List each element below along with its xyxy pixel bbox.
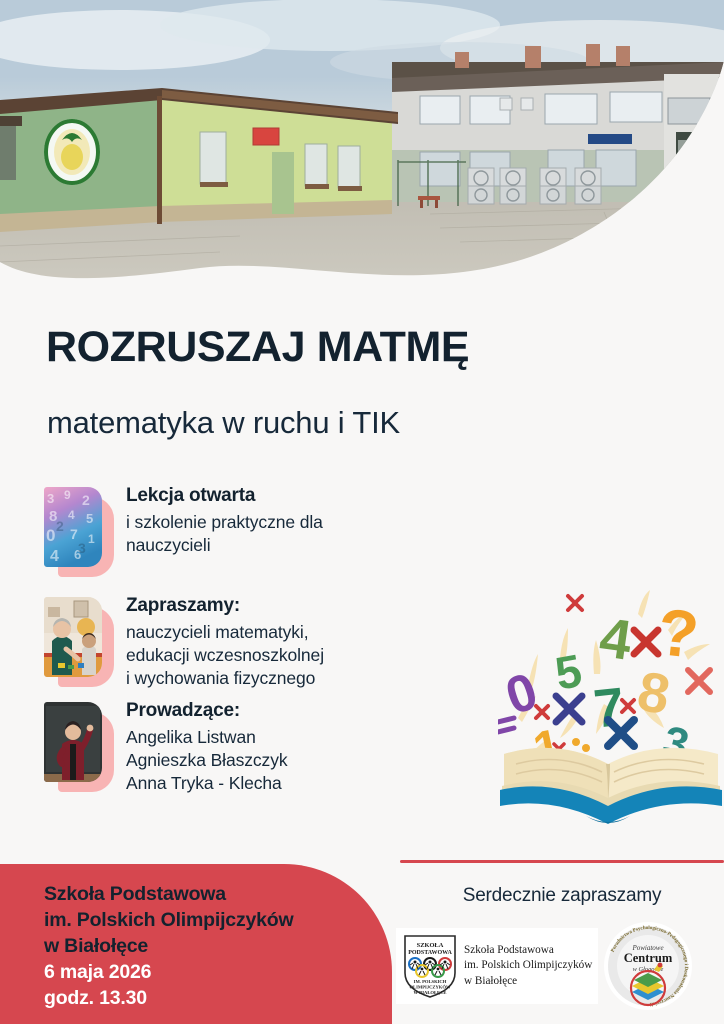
svg-text:2: 2 <box>56 518 64 534</box>
school-logo-line: w Białołęce <box>464 974 592 989</box>
section-heading: Zapraszamy: <box>126 595 324 617</box>
svg-text:W BIAŁOŁĘCE: W BIAŁOŁĘCE <box>414 990 447 995</box>
svg-text:?: ? <box>654 594 702 672</box>
event-details-banner: Szkoła Podstawowa im. Polskich Olimpijcz… <box>0 864 392 1024</box>
section-line: Agnieszka Błaszczyk <box>126 749 288 772</box>
event-date: 6 maja 2026 <box>44 960 293 986</box>
section-text: Prowadzące: Angelika Listwan Agnieszka B… <box>126 700 288 795</box>
numbers-gradient-photo: 3 9 2 8 4 5 0 7 1 4 6 2 3 <box>44 487 102 567</box>
open-book-with-numbers-illustration: 0 5 4 7 8 3 1 ? <box>498 578 724 830</box>
svg-text:3: 3 <box>47 491 54 506</box>
school-logo-line: im. Polskich Olimpijczyków <box>464 958 592 973</box>
svg-text:3: 3 <box>78 540 86 556</box>
school-building-photo <box>0 0 724 300</box>
thumbnail-holder <box>44 597 104 682</box>
svg-text:Centrum: Centrum <box>624 951 673 965</box>
svg-text:9: 9 <box>64 488 71 502</box>
banner-school-line: w Białołęce <box>44 934 293 960</box>
section-line: Anna Tryka - Klecha <box>126 772 288 795</box>
banner-text-block: Szkoła Podstawowa im. Polskich Olimpijcz… <box>44 882 293 1012</box>
section-heading: Lekcja otwarta <box>126 485 323 507</box>
svg-text:1: 1 <box>88 532 95 546</box>
section-line: nauczycieli matematyki, <box>126 621 324 644</box>
section-line: edukacji wczesnoszkolnej <box>126 644 324 667</box>
svg-text:0: 0 <box>46 526 55 545</box>
svg-text:5: 5 <box>551 644 585 700</box>
footer-logos: SZKOŁA PODSTAWOWA <box>396 918 724 1014</box>
event-time: godz. 13.30 <box>44 986 293 1012</box>
section-text: Lekcja otwarta i szkolenie praktyczne dl… <box>126 485 323 557</box>
page-subtitle: matematyka w ruchu i TIK <box>47 405 400 441</box>
section-text: Zapraszamy: nauczycieli matematyki, eduk… <box>126 595 324 690</box>
footer-divider <box>400 860 724 863</box>
page-title: ROZRUSZAJ MATMĘ <box>46 325 469 370</box>
svg-text:4: 4 <box>596 605 636 672</box>
section-line: nauczycieli <box>126 534 323 557</box>
svg-text:OLIMPIJCZYKÓW: OLIMPIJCZYKÓW <box>409 985 450 990</box>
school-crest-icon: SZKOŁA PODSTAWOWA <box>402 933 458 999</box>
svg-text:7: 7 <box>70 526 78 542</box>
section-line: i szkolenie praktyczne dla <box>126 511 323 534</box>
svg-text:2: 2 <box>82 492 90 508</box>
svg-text:4: 4 <box>50 548 59 565</box>
svg-text:5: 5 <box>86 511 93 526</box>
section-heading: Prowadzące: <box>126 700 288 722</box>
banner-school-line: Szkoła Podstawowa <box>44 882 293 908</box>
svg-text:IM. POLSKICH: IM. POLSKICH <box>414 979 447 984</box>
teacher-at-blackboard-photo <box>44 702 102 782</box>
thumbnail-holder: 3 9 2 8 4 5 0 7 1 4 6 2 3 <box>44 487 104 572</box>
section-line: Angelika Listwan <box>126 726 288 749</box>
centre-logo-seal: Poradnictwa Psychologiczno-Pedagogiczneg… <box>602 920 694 1012</box>
thumbnail-holder <box>44 702 104 787</box>
header-photo <box>0 0 724 300</box>
invitation-text: Serdecznie zapraszamy <box>400 885 724 907</box>
school-logo-line: Szkoła Podstawowa <box>464 943 592 958</box>
banner-school-line: im. Polskich Olimpijczyków <box>44 908 293 934</box>
svg-text:4: 4 <box>68 508 75 522</box>
school-logo: SZKOŁA PODSTAWOWA <box>396 928 598 1004</box>
section-line: i wychowania fizycznego <box>126 667 324 690</box>
svg-text:SZKOŁA: SZKOŁA <box>417 942 444 949</box>
teacher-with-child-photo <box>44 597 102 677</box>
poster-canvas: ROZRUSZAJ MATMĘ matematyka w ruchu i TIK <box>0 0 724 1024</box>
svg-text:PODSTAWOWA: PODSTAWOWA <box>408 950 452 956</box>
school-logo-text: Szkoła Podstawowa im. Polskich Olimpijcz… <box>464 943 592 989</box>
